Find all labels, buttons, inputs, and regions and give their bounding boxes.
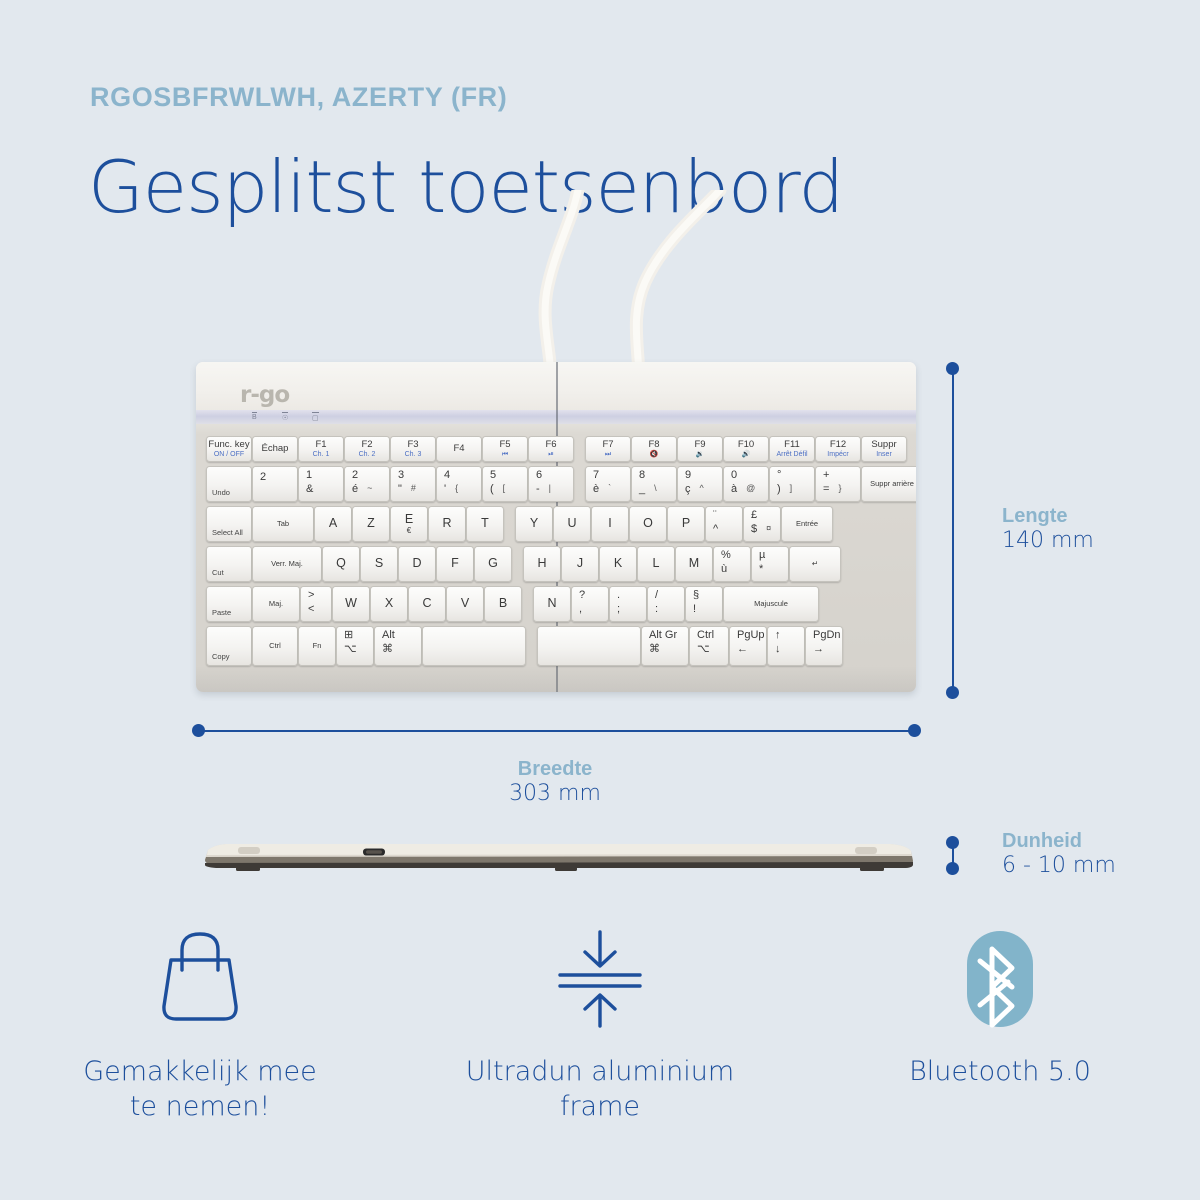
keyboard-key-majuscule[interactable]: Majuscule xyxy=(723,586,819,622)
key-legend-primary: S xyxy=(375,557,383,570)
key-legend-primary: F8 xyxy=(648,440,659,450)
key-legend-upper: 2 xyxy=(352,470,358,482)
keyboard-key[interactable]: F xyxy=(436,546,474,582)
key-legend-primary: G xyxy=(488,557,498,570)
keyboard-key[interactable]: E€ xyxy=(390,506,428,542)
key-legend-secondary: 🔉 xyxy=(696,451,705,458)
product-sku-subtitle: RGOSBFRWLWH, AZERTY (FR) xyxy=(90,82,507,113)
key-legend-primary: Majuscule xyxy=(754,600,788,608)
key-legend-upper: § xyxy=(693,590,699,602)
key-legend-primary: F10 xyxy=(738,440,754,450)
key-legend-upper: ¨ xyxy=(713,510,717,522)
keyboard-key[interactable]: §! xyxy=(685,586,723,622)
key-legend-lower: è` xyxy=(593,484,611,496)
width-dim-dot-right xyxy=(908,724,921,737)
keyboard-key[interactable]: £$¤ xyxy=(743,506,781,542)
key-legend-upper: 5 xyxy=(490,470,496,482)
keyboard-key[interactable]: PgDn→ xyxy=(805,626,843,666)
key-legend-primary: X xyxy=(385,597,393,610)
keyboard-key[interactable]: ⊞⌥ xyxy=(336,626,374,666)
keyboard-key[interactable]: 0à@ xyxy=(723,466,769,502)
key-legend-secondary: Ch. 1 xyxy=(313,451,330,458)
feature-bluetooth-label: Bluetooth 5.0 xyxy=(909,1055,1091,1090)
key-legend-primary: L xyxy=(653,557,660,570)
keyboard-key[interactable]: F3Ch. 3 xyxy=(390,436,436,462)
feature-portable: Gemakkelijk mee te nemen! xyxy=(0,925,400,1155)
key-legend-secondary: 🔊 xyxy=(742,451,751,458)
key-legend-primary: T xyxy=(481,517,489,530)
key-legend-primary: Y xyxy=(530,517,538,530)
key-legend-primary: Q xyxy=(336,557,346,570)
keyboard-key[interactable]: 2é~ xyxy=(344,466,390,502)
key-legend-primary: Verr. Maj. xyxy=(271,560,303,568)
key-legend-lower: ⌥ xyxy=(697,644,710,656)
key-legend-upper: 1 xyxy=(306,470,312,482)
keyboard-key[interactable]: T xyxy=(466,506,504,542)
thickness-dim-name: Dunheid xyxy=(1002,830,1116,853)
width-dim-label: Breedte 303 mm xyxy=(405,758,705,806)
key-legend-primary: Fn xyxy=(313,642,322,650)
key-legend-lower: ⌘ xyxy=(382,644,393,656)
keyboard-key[interactable]: 9ç^ xyxy=(677,466,723,502)
key-legend-primary: ↵ xyxy=(812,560,818,568)
key-legend-secondary: ON / OFF xyxy=(214,451,244,458)
keyboard-key[interactable]: G xyxy=(474,546,512,582)
keyboard-key[interactable]: PgUp← xyxy=(729,626,767,666)
key-legend-upper: + xyxy=(823,470,829,482)
key-legend-upper: 4 xyxy=(444,470,450,482)
length-dim-name: Lengte xyxy=(1002,505,1094,528)
key-legend-secondary: Arrêt Défil xyxy=(776,451,807,458)
keyboard-key[interactable]: /: xyxy=(647,586,685,622)
key-legend-primary: R xyxy=(442,517,451,530)
keyboard-key[interactable]: 5([ xyxy=(482,466,528,502)
key-legend-primary: Ctrl xyxy=(269,642,281,650)
keyboard-side-profile-view xyxy=(200,838,918,874)
keyboard-key[interactable]: J xyxy=(561,546,599,582)
key-legend-lower: ⌘ xyxy=(649,644,660,656)
key-legend-primary: V xyxy=(461,597,469,610)
key-legend-upper: ↑ xyxy=(775,630,781,642)
keyboard-key[interactable]: 4'{ xyxy=(436,466,482,502)
keyboard-key-macro[interactable]: Copy xyxy=(206,626,252,666)
keyboard-key-enter-arrow[interactable]: ↵ xyxy=(789,546,841,582)
keyboard-key-entr-e[interactable]: Entrée xyxy=(781,506,833,542)
keyboard-key[interactable]: F10🔊 xyxy=(723,436,769,462)
key-legend-upper: 9 xyxy=(685,470,691,482)
key-legend-secondary: € xyxy=(407,527,411,535)
keyboard-key[interactable]: µ* xyxy=(751,546,789,582)
key-legend-primary: U xyxy=(567,517,576,530)
keyboard-key[interactable]: F2Ch. 2 xyxy=(344,436,390,462)
key-legend-secondary: Impécr xyxy=(827,451,848,458)
key-legend-secondary: ⏮ xyxy=(502,451,508,458)
keyboard-key[interactable]: O xyxy=(629,506,667,542)
keyboard-row: Undo21&2é~3"#4'{5([6-|7è`8_\9ç^0à@°)]+=}… xyxy=(206,466,916,502)
feature-bluetooth: Bluetooth 5.0 xyxy=(800,925,1200,1155)
key-legend-primary: K xyxy=(614,557,622,570)
keyboard-key[interactable]: Échap xyxy=(252,436,298,462)
keyboard-key[interactable]: L xyxy=(637,546,675,582)
key-legend-primary: Tab xyxy=(277,520,289,528)
keyboard-key[interactable]: Alt Gr⌘ xyxy=(641,626,689,666)
keyboard-key[interactable]: F6⏯ xyxy=(528,436,574,462)
keyboard-key[interactable]: F4 xyxy=(436,436,482,462)
key-legend-upper: Alt Gr xyxy=(649,630,677,642)
key-legend-primary: F1 xyxy=(315,440,326,450)
key-legend-upper: Ctrl xyxy=(697,630,714,642)
key-legend-upper: µ xyxy=(759,550,765,562)
key-legend-upper: £ xyxy=(751,510,757,522)
keyboard-key[interactable]: 2 xyxy=(252,466,298,502)
key-legend-primary: F5 xyxy=(499,440,510,450)
key-legend-primary: W xyxy=(345,597,357,610)
keyboard-key[interactable]: F5⏮ xyxy=(482,436,528,462)
keyboard-row: Select AllTabAZE€RTYUIOP¨^£$¤Entrée xyxy=(206,506,833,542)
key-legend-upper: PgUp xyxy=(737,630,765,642)
keyboard-top-view: r-go B ☉ ▢ Func. keyON / OFFÉchapF1Ch. 1… xyxy=(196,362,916,692)
keyboard-cables-illustration xyxy=(0,190,1200,380)
key-legend-upper: Alt xyxy=(382,630,395,642)
key-legend-primary: Échap xyxy=(262,444,289,454)
keyboard-key-maj-[interactable]: Maj. xyxy=(252,586,300,622)
keyboard-key[interactable]: W xyxy=(332,586,370,622)
key-legend-primary: I xyxy=(608,517,611,530)
key-legend-lower: → xyxy=(813,644,824,656)
key-legend-upper: 6 xyxy=(536,470,542,482)
keyboard-key[interactable]: I xyxy=(591,506,629,542)
battery-indicator-icon: ☉ xyxy=(282,412,288,422)
keyboard-key[interactable]: >< xyxy=(300,586,332,622)
keyboard-row: PasteMaj.><WXCVBN?,.;/:§!Majuscule xyxy=(206,586,819,622)
keyboard-key-tab[interactable]: Tab xyxy=(252,506,314,542)
keyboard-key-macro[interactable]: Cut xyxy=(206,546,252,582)
keyboard-key-fn[interactable]: Fn xyxy=(298,626,336,666)
keyboard-key[interactable]: 8_\ xyxy=(631,466,677,502)
keyboard-key[interactable]: M xyxy=(675,546,713,582)
keyboard-key[interactable]: Func. keyON / OFF xyxy=(206,436,252,462)
key-legend-primary: F7 xyxy=(602,440,613,450)
keyboard-key-suppr-arri-re[interactable]: Suppr arrière xyxy=(861,466,916,502)
keyboard-key[interactable]: SupprInser xyxy=(861,436,907,462)
keyboard-key[interactable]: K xyxy=(599,546,637,582)
keyboard-key[interactable]: Alt⌘ xyxy=(374,626,422,666)
key-legend-lower: à@ xyxy=(731,484,755,496)
key-legend-primary: A xyxy=(329,517,337,530)
key-legend-primary: P xyxy=(682,517,690,530)
key-legend-primary: F11 xyxy=(784,440,800,450)
key-legend-lower: =} xyxy=(823,484,841,496)
bluetooth-indicator-icon: B xyxy=(252,412,257,421)
key-legend-upper: 8 xyxy=(639,470,645,482)
key-legend-primary: D xyxy=(412,557,421,570)
feature-portable-label: Gemakkelijk mee te nemen! xyxy=(83,1055,317,1124)
keyboard-key[interactable]: X xyxy=(370,586,408,622)
keyboard-bottom-shading xyxy=(196,666,916,692)
thin-frame-icon xyxy=(547,925,653,1033)
key-legend-primary: F xyxy=(451,557,459,570)
key-legend-primary: Suppr xyxy=(871,440,896,450)
key-legend-primary: F4 xyxy=(453,444,464,454)
keyboard-row: CopyCtrlFn⊞⌥Alt⌘Alt Gr⌘Ctrl⌥PgUp←↑↓PgDn→ xyxy=(206,626,843,666)
keyboard-key[interactable]: 6-| xyxy=(528,466,574,502)
indicator-icons: B ☉ ▢ xyxy=(252,410,342,424)
keyboard-key[interactable]: 1& xyxy=(298,466,344,502)
thickness-dim-dot-bottom xyxy=(946,862,959,875)
key-legend-secondary: 🔇 xyxy=(650,451,659,458)
keyboard-key[interactable]: 3"# xyxy=(390,466,436,502)
keyboard-key[interactable]: U xyxy=(553,506,591,542)
key-legend-primary: F2 xyxy=(361,440,372,450)
length-dim-label: Lengte 140 mm xyxy=(1002,505,1094,553)
key-legend-lower: ^ xyxy=(713,524,718,536)
key-legend-upper: ⊞ xyxy=(344,630,353,642)
key-legend-primary: H xyxy=(537,557,546,570)
key-legend-lower: é~ xyxy=(352,484,372,496)
key-legend-primary: B xyxy=(499,597,507,610)
keyboard-key[interactable]: C xyxy=(408,586,446,622)
keyboard-key[interactable]: Z xyxy=(352,506,390,542)
key-legend-lower: ù xyxy=(721,564,727,576)
caps-indicator-icon: ▢ xyxy=(312,412,319,422)
key-legend-lower: -| xyxy=(536,484,551,496)
keyboard-key[interactable]: F11Arrêt Défil xyxy=(769,436,815,462)
length-dim-value: 140 mm xyxy=(1002,528,1094,553)
keyboard-key-space-right[interactable] xyxy=(537,626,641,666)
key-legend-secondary: ⏯ xyxy=(548,451,554,458)
keyboard-key[interactable]: °)] xyxy=(769,466,815,502)
keyboard-key[interactable]: 7è` xyxy=(585,466,631,502)
key-legend-upper: ° xyxy=(777,470,781,482)
key-legend-primary: Maj. xyxy=(269,600,283,608)
key-legend-upper: 3 xyxy=(398,470,404,482)
key-legend-lower: 2 xyxy=(260,472,266,484)
key-legend-lower: _\ xyxy=(639,484,657,496)
key-legend-primary: O xyxy=(643,517,653,530)
keyboard-key[interactable]: Y xyxy=(515,506,553,542)
key-legend-upper: PgDn xyxy=(813,630,841,642)
key-legend-primary: F3 xyxy=(407,440,418,450)
keyboard-key[interactable]: R xyxy=(428,506,466,542)
keyboard-key[interactable]: Q xyxy=(322,546,360,582)
key-legend-lower: : xyxy=(655,604,658,616)
width-dim-value: 303 mm xyxy=(405,781,705,806)
feature-thin-frame: Ultradun aluminium frame xyxy=(400,925,800,1155)
keyboard-key[interactable]: V xyxy=(446,586,484,622)
keyboard-key[interactable]: B xyxy=(484,586,522,622)
key-legend-lower: & xyxy=(306,484,313,496)
key-legend-primary: Entrée xyxy=(796,520,818,528)
key-legend-lower: '{ xyxy=(444,484,458,496)
key-legend-secondary: Inser xyxy=(876,451,892,458)
keyboard-key[interactable]: ¨^ xyxy=(705,506,743,542)
keyboard-key-space-left[interactable] xyxy=(422,626,526,666)
keyboard-key[interactable]: .; xyxy=(609,586,647,622)
keyboard-key[interactable]: ?, xyxy=(571,586,609,622)
key-legend-primary: Z xyxy=(367,517,375,530)
keyboard-key-macro[interactable]: Paste xyxy=(206,586,252,622)
keyboard-key-ctrl[interactable]: Ctrl xyxy=(252,626,298,666)
key-legend-primary: F6 xyxy=(545,440,556,450)
key-legend-lower: ([ xyxy=(490,484,505,496)
key-legend-lower: )] xyxy=(777,484,792,496)
keyboard-row: Func. keyON / OFFÉchapF1Ch. 1F2Ch. 2F3Ch… xyxy=(206,436,907,462)
thickness-dim-label: Dunheid 6 - 10 mm xyxy=(1002,830,1116,878)
key-legend-lower: , xyxy=(579,604,582,616)
key-legend-primary: E xyxy=(405,513,413,526)
keyboard-key[interactable]: N xyxy=(533,586,571,622)
key-legend-lower: ç^ xyxy=(685,484,704,496)
key-legend-primary: F9 xyxy=(694,440,705,450)
feature-thin-frame-label: Ultradun aluminium frame xyxy=(466,1055,734,1124)
infographic-page: RGOSBFRWLWH, AZERTY (FR) Gesplitst toets… xyxy=(0,0,1200,1200)
keyboard-key[interactable]: F7⏭ xyxy=(585,436,631,462)
key-legend-secondary: Ch. 3 xyxy=(405,451,422,458)
shopping-bag-icon xyxy=(151,925,249,1033)
width-dim-line xyxy=(198,730,914,733)
bluetooth-icon xyxy=(952,925,1048,1033)
keyboard-key[interactable]: F8🔇 xyxy=(631,436,677,462)
keyboard-key[interactable]: S xyxy=(360,546,398,582)
keyboard-key[interactable]: D xyxy=(398,546,436,582)
key-legend-lower: ⌥ xyxy=(344,644,357,656)
keyboard-key-macro[interactable]: Undo xyxy=(206,466,252,502)
length-dim-line xyxy=(952,368,955,692)
brand-logo: r-go xyxy=(240,382,289,408)
keyboard-key[interactable]: ↑↓ xyxy=(767,626,805,666)
key-legend-upper: ? xyxy=(579,590,585,602)
keyboard-key[interactable]: Ctrl⌥ xyxy=(689,626,729,666)
width-dim-name: Breedte xyxy=(405,758,705,781)
thickness-dim-value: 6 - 10 mm xyxy=(1002,853,1116,878)
key-legend-secondary: ⏭ xyxy=(605,451,611,458)
key-legend-lower: $¤ xyxy=(751,524,771,536)
key-legend-upper: 0 xyxy=(731,470,737,482)
key-legend-primary: J xyxy=(577,557,583,570)
key-legend-secondary: Ch. 2 xyxy=(359,451,376,458)
key-legend-lower: "# xyxy=(398,484,416,496)
keyboard-key-macro[interactable]: Select All xyxy=(206,506,252,542)
keyboard-key[interactable]: A xyxy=(314,506,352,542)
key-legend-primary: Suppr arrière xyxy=(870,480,914,488)
keyboard-key-verr-maj-[interactable]: Verr. Maj. xyxy=(252,546,322,582)
key-legend-upper: . xyxy=(617,590,620,602)
key-legend-upper: / xyxy=(655,590,658,602)
key-legend-primary: Func. key xyxy=(208,440,249,450)
keyboard-key[interactable]: F9🔉 xyxy=(677,436,723,462)
key-legend-lower: < xyxy=(308,604,314,616)
key-legend-lower: ; xyxy=(617,604,620,616)
keyboard-key[interactable]: P xyxy=(667,506,705,542)
key-legend-primary: F12 xyxy=(830,440,846,450)
keyboard-key[interactable]: F12Impécr xyxy=(815,436,861,462)
keyboard-key[interactable]: F1Ch. 1 xyxy=(298,436,344,462)
key-legend-primary: C xyxy=(422,597,431,610)
key-legend-primary: N xyxy=(547,597,556,610)
key-legend-upper: 7 xyxy=(593,470,599,482)
key-legend-lower: ↓ xyxy=(775,644,781,656)
feature-list: Gemakkelijk mee te nemen! Ultradun alumi… xyxy=(0,925,1200,1155)
key-legend-primary: M xyxy=(689,557,699,570)
key-legend-lower: ← xyxy=(737,644,748,656)
keyboard-row: CutVerr. Maj.QSDFGHJKLM%ùµ*↵ xyxy=(206,546,841,582)
keyboard-key[interactable]: H xyxy=(523,546,561,582)
key-legend-lower: ! xyxy=(693,604,696,616)
length-dim-dot-bottom xyxy=(946,686,959,699)
keyboard-key[interactable]: +=} xyxy=(815,466,861,502)
key-legend-upper: > xyxy=(308,590,314,602)
keyboard-key[interactable]: %ù xyxy=(713,546,751,582)
key-legend-upper: % xyxy=(721,550,731,562)
key-legend-lower: * xyxy=(759,564,763,576)
